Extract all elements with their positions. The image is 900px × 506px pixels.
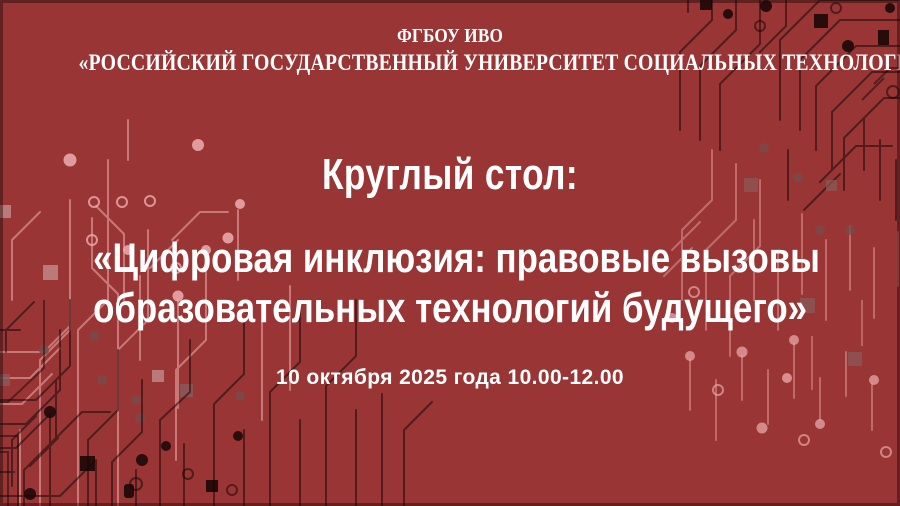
event-title-line-1: «Цифровая инклюзия: правовые вызовы (93, 233, 807, 282)
poster-content: ФГБОУ ИВО «РОССИЙСКИЙ ГОСУДАРСТВЕННЫЙ УН… (0, 0, 900, 506)
organization-header: ФГБОУ ИВО «РОССИЙСКИЙ ГОСУДАРСТВЕННЫЙ УН… (0, 26, 900, 75)
event-announcement-poster: ФГБОУ ИВО «РОССИЙСКИЙ ГОСУДАРСТВЕННЫЙ УН… (0, 0, 900, 506)
event-date-time: 10 октября 2025 года 10.00-12.00 (276, 366, 624, 390)
event-title-line-2: образовательных технологий будущего» (93, 283, 807, 332)
event-type-label: Круглый стол: (322, 153, 578, 197)
organization-full-name: «РОССИЙСКИЙ ГОСУДАРСТВЕННЫЙ УНИВЕРСИТЕТ … (78, 51, 821, 76)
organization-abbreviation: ФГБОУ ИВО (78, 26, 821, 48)
event-title: «Цифровая инклюзия: правовые вызовы обра… (93, 233, 807, 331)
